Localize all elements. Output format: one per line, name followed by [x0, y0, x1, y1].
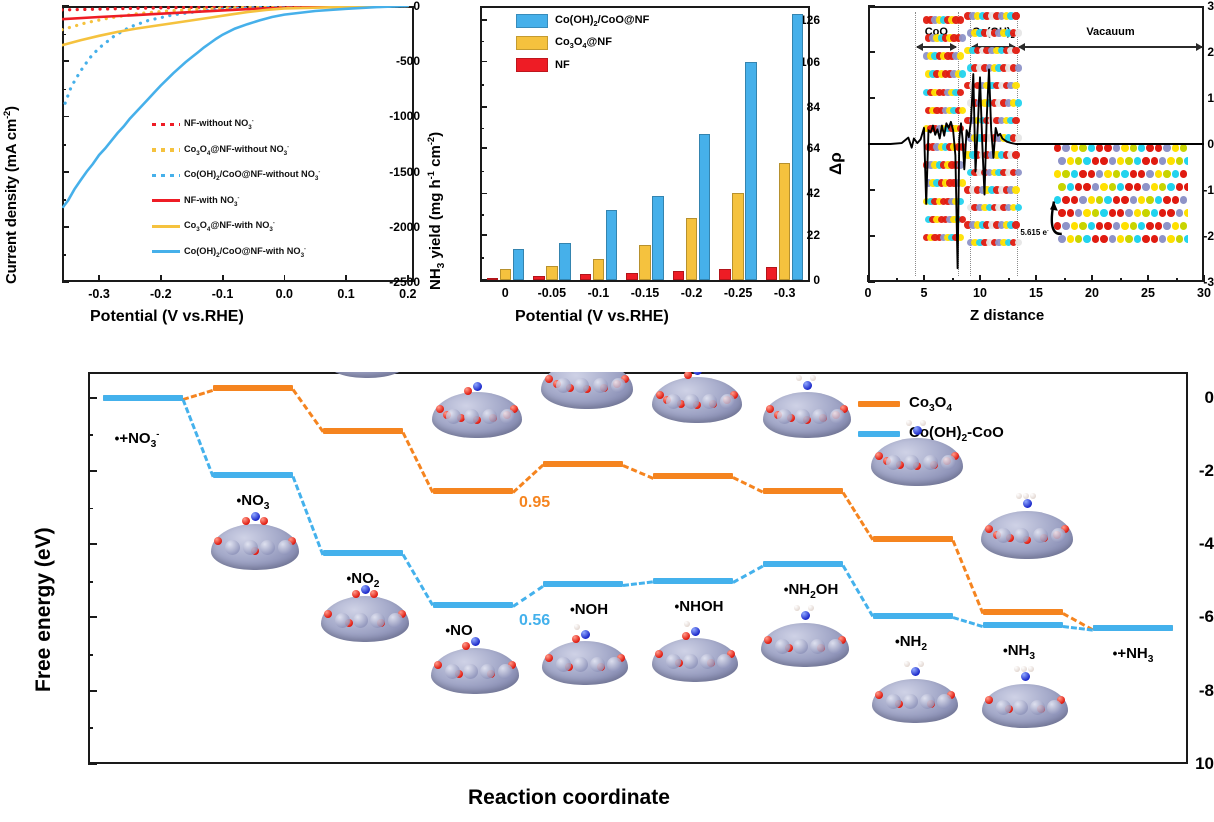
panelA-legend-item: Co(OH)2/CoO@NF-without NO3- — [152, 169, 320, 182]
panelD-connector — [182, 399, 215, 477]
panelD-connector — [952, 540, 985, 614]
cobalt-atom — [611, 378, 626, 393]
nitrogen-atom — [1021, 672, 1030, 681]
panelB-bar — [593, 259, 605, 280]
panelB-bar — [639, 245, 651, 280]
cobalt-atom — [243, 540, 258, 555]
cobalt-atom — [904, 455, 919, 470]
panelA-legend-item: NF-without NO3- — [152, 118, 254, 131]
panelD-connector — [732, 565, 763, 584]
panelA-legend-dotted-swatch — [152, 123, 180, 127]
molecule-structure — [652, 377, 742, 423]
cobalt-atom — [903, 694, 918, 709]
panelA-legend-line-swatch — [152, 250, 180, 253]
panelA-x-tick-label: -0.2 — [150, 287, 172, 301]
cobalt-atom — [260, 540, 275, 555]
cobalt-atom — [720, 394, 735, 409]
panelD-legend-label: Co3O4 — [909, 394, 952, 414]
cobalt-atom — [996, 700, 1011, 715]
panelD-connector — [622, 464, 653, 480]
panelB-x-tick-label: 0 — [502, 286, 509, 300]
panelB-bar — [745, 62, 757, 280]
panelD-energy-level — [763, 488, 843, 494]
cobalt-atom — [335, 613, 350, 628]
panelA-legend-item: NF-with NO3- — [152, 195, 239, 208]
hydrogen-atom — [810, 375, 816, 381]
cobalt-atom — [446, 409, 461, 424]
panelC-arrow-head — [1050, 202, 1058, 211]
cobalt-atom — [573, 657, 588, 672]
panelD-energy-level — [433, 602, 513, 608]
panelD-energy-level — [983, 609, 1063, 615]
panelC-charge-transfer-label: 5.615 e- — [1020, 228, 1048, 237]
panelC-x-axis-title: Z distance — [970, 307, 1044, 324]
panelC-x-tick-label: 20 — [1085, 286, 1099, 300]
oxygen-atom — [434, 661, 442, 669]
cobalt-atom — [795, 409, 810, 424]
panelD-state-label: •NH2 — [895, 633, 927, 653]
panelD-connector — [183, 389, 214, 401]
cobalt-atom — [683, 654, 698, 669]
nitrogen-atom — [911, 667, 920, 676]
cobalt-atom — [556, 378, 571, 393]
panelC-x-tick-label: 25 — [1141, 286, 1155, 300]
panelD-connector — [512, 464, 544, 494]
panelA-legend-item: Co3O4@NF-with NO3- — [152, 220, 275, 233]
panelB-bar — [626, 273, 638, 280]
panel-free-energy-diagram: Free energy (eV) Reaction coordinate 0-2… — [28, 362, 1214, 822]
molecule-structure — [761, 623, 849, 667]
panelB-x-tick-label: -0.3 — [774, 286, 796, 300]
panelA-legend-line-swatch — [152, 225, 180, 228]
panelD-legend-swatch — [858, 401, 900, 407]
cobalt-atom — [700, 654, 715, 669]
oxygen-atom — [260, 517, 268, 525]
oxygen-atom — [655, 650, 663, 658]
panelB-bar — [699, 134, 711, 280]
panelD-state-label: •NO3 — [237, 492, 270, 512]
molecule-structure — [871, 438, 963, 486]
panelD-legend-item: Co3O4 — [858, 394, 952, 414]
panelD-energy-level — [103, 395, 183, 401]
molecule-structure — [431, 648, 519, 694]
panelD-energy-level — [763, 561, 843, 567]
panelC-x-tick-label: 15 — [1029, 286, 1043, 300]
oxygen-atom — [324, 610, 332, 618]
panelC-x-tick-label: 30 — [1197, 286, 1211, 300]
oxygen-atom — [242, 517, 250, 525]
hydrogen-atom — [918, 661, 924, 667]
panelA-series-line — [62, 6, 408, 45]
hydrogen-atom — [1016, 493, 1022, 499]
cobalt-atom — [1013, 700, 1028, 715]
nitrogen-atom — [361, 585, 370, 594]
panelA-x-tick-label: 0.1 — [337, 287, 354, 301]
panelB-bar — [580, 274, 592, 280]
panelD-state-label: •+NO3- — [115, 429, 160, 450]
molecule-structure — [981, 511, 1073, 559]
hydrogen-atom — [808, 605, 814, 611]
panelA-legend-label: NF-without NO3- — [184, 118, 254, 131]
oxygen-atom — [764, 636, 772, 644]
hydrogen-atom — [1021, 666, 1027, 672]
panelB-bar — [719, 269, 731, 280]
oxygen-atom — [352, 590, 360, 598]
panelD-barrier-label: 0.56 — [519, 612, 550, 630]
panelD-energy-level — [543, 581, 623, 587]
cobalt-atom — [482, 409, 497, 424]
panelB-bar — [673, 271, 685, 280]
panelB-y-axis-title: NH3 yield (mg h-1 cm-2) — [426, 132, 447, 290]
oxygen-atom — [985, 696, 993, 704]
panelD-state-label: •NH2OH — [784, 581, 839, 601]
nitrogen-atom — [473, 382, 482, 391]
panelB-bar — [779, 163, 791, 280]
cobalt-atom — [1047, 700, 1062, 715]
panelB-legend-swatch — [516, 58, 548, 72]
panelB-bar — [606, 210, 618, 280]
molecule-structure — [432, 392, 522, 438]
oxygen-atom — [656, 391, 664, 399]
oxygen-atom — [766, 405, 774, 413]
panelD-energy-level — [213, 385, 293, 391]
panelA-legend-dotted-swatch — [152, 174, 180, 178]
molecule-structure — [982, 684, 1068, 728]
nitrogen-atom — [581, 630, 590, 639]
panelD-state-label: •NO — [445, 622, 472, 639]
oxygen-atom — [572, 635, 580, 643]
panelD-connector — [402, 554, 435, 607]
panelD-energy-level — [323, 428, 403, 434]
molecule-structure — [321, 596, 409, 642]
cobalt-atom — [1033, 528, 1048, 543]
panelB-bar — [533, 276, 545, 280]
panelD-state-label: •NHOH — [675, 598, 724, 615]
panelB-bar — [546, 266, 558, 280]
panelD-energy-level — [873, 613, 953, 619]
hydrogen-atom — [1014, 666, 1020, 672]
panelD-state-label: •NOH — [570, 601, 608, 618]
cobalt-atom — [498, 664, 513, 679]
oxygen-atom — [462, 642, 470, 650]
cobalt-atom — [353, 613, 368, 628]
panel-lsv-curves: Current density (mA cm-2) Potential (V v… — [0, 0, 420, 345]
oxygen-atom — [875, 691, 883, 699]
panelD-energy-level — [323, 550, 403, 556]
panelB-x-axis-title: Potential (V vs.RHE) — [515, 308, 669, 326]
panelB-bar — [652, 196, 664, 280]
panelB-bar — [792, 14, 804, 280]
panelD-x-axis-title: Reaction coordinate — [468, 786, 670, 810]
cobalt-atom — [464, 409, 479, 424]
panelD-legend-swatch — [858, 431, 900, 437]
panelD-connector — [292, 389, 324, 433]
nitrogen-atom — [471, 637, 480, 646]
panel-nh3-yield-bars: NH3 yield (mg h-1 cm-2) Potential (V vs.… — [420, 0, 820, 345]
panel-charge-density: Δρ Z distance 3210-1-2-3 051015202530 Co… — [820, 0, 1214, 345]
nitrogen-atom — [803, 381, 812, 390]
panelD-energy-level — [983, 622, 1063, 628]
panelA-x-tick-label: 0.0 — [276, 287, 293, 301]
panelB-x-tick-label: -0.15 — [631, 286, 660, 300]
panelC-x-tick-label: 10 — [973, 286, 987, 300]
cobalt-atom — [556, 657, 571, 672]
panelD-connector — [623, 581, 653, 588]
panelD-barrier-label: 0.95 — [519, 494, 550, 512]
panelA-x-axis-title: Potential (V vs.RHE) — [90, 308, 244, 326]
hydrogen-atom — [794, 605, 800, 611]
panelA-legend-label: NF-with NO3- — [184, 195, 239, 208]
cobalt-atom — [593, 378, 608, 393]
oxygen-atom — [684, 372, 692, 379]
panelA-legend-label: Co(OH)2/CoO@NF-without NO3- — [184, 169, 320, 182]
panelB-legend-swatch — [516, 14, 548, 28]
oxygen-atom — [214, 537, 222, 545]
cobalt-atom — [996, 528, 1011, 543]
cobalt-atom — [1030, 700, 1045, 715]
panelA-x-tick-label: -0.1 — [212, 287, 234, 301]
cobalt-atom — [388, 613, 403, 628]
panelD-y-axis-title: Free energy (eV) — [32, 527, 56, 692]
panelD-state-label: •+NH3 — [1113, 645, 1154, 665]
hydrogen-atom — [574, 624, 580, 630]
cobalt-atom — [886, 455, 901, 470]
nitrogen-atom — [691, 627, 700, 636]
panelB-x-tick-label: -0.25 — [724, 286, 753, 300]
molecule-structure — [652, 638, 738, 682]
panelB-legend-swatch — [516, 36, 548, 50]
oxygen-atom — [875, 452, 883, 460]
panelC-curve — [868, 70, 1204, 269]
oxygen-atom — [985, 525, 993, 533]
panelB-x-tick-label: -0.2 — [681, 286, 703, 300]
panelA-series-line — [65, 6, 408, 103]
panelA-legend-label: Co(OH)2/CoO@NF-with NO3- — [184, 246, 306, 259]
panelD-energy-level — [433, 488, 513, 494]
panelD-energy-level — [873, 536, 953, 542]
cobalt-atom — [717, 654, 732, 669]
panelA-legend-line-swatch — [152, 199, 180, 202]
hydrogen-atom — [1030, 493, 1036, 499]
cobalt-atom — [828, 639, 843, 654]
molecule-structure — [211, 524, 299, 570]
cobalt-atom — [278, 540, 293, 555]
panelB-legend-item: Co3O4@NF — [516, 36, 612, 50]
hydrogen-atom — [796, 375, 802, 381]
panelD-connector — [512, 585, 544, 608]
nitrogen-atom — [1023, 499, 1032, 508]
panelD-energy-level — [543, 461, 623, 467]
molecule-structure — [872, 679, 958, 723]
panelB-legend-item: NF — [516, 58, 570, 72]
cobalt-atom — [941, 455, 956, 470]
panelC-x-tick-label: 0 — [865, 286, 872, 300]
oxygen-atom — [370, 590, 378, 598]
panelA-y-axis-title: Current density (mA cm-2) — [2, 106, 20, 284]
panelD-energy-level — [1093, 625, 1173, 631]
cobalt-atom — [777, 409, 792, 424]
panelD-connector — [402, 431, 435, 493]
panelB-legend-label: Co3O4@NF — [555, 36, 612, 50]
cobalt-atom — [937, 694, 952, 709]
panelC-y-axis-title: Δρ — [826, 152, 846, 175]
panelA-x-tick-label: 0.2 — [399, 287, 416, 301]
cobalt-atom — [810, 639, 825, 654]
panelB-x-tick-label: -0.1 — [588, 286, 610, 300]
panelD-legend-label: Co(OH)2-CoO — [909, 424, 1004, 444]
cobalt-atom — [812, 409, 827, 424]
panelB-x-tick-label: -0.05 — [538, 286, 567, 300]
molecule-structure — [763, 392, 851, 438]
panelB-bar — [500, 269, 512, 280]
cobalt-atom — [1051, 528, 1066, 543]
cobalt-atom — [607, 657, 622, 672]
cobalt-atom — [923, 455, 938, 470]
panelA-legend-item: Co3O4@NF-without NO3- — [152, 144, 289, 157]
panelD-energy-level — [213, 472, 293, 478]
panelB-legend-label: NF — [555, 59, 570, 71]
panelB-bar — [559, 243, 571, 280]
panelA-legend-label: Co3O4@NF-with NO3- — [184, 220, 275, 233]
panelA-legend-label: Co3O4@NF-without NO3- — [184, 144, 289, 157]
cobalt-atom — [666, 654, 681, 669]
panelB-bar — [766, 267, 778, 280]
panelD-energy-level — [653, 578, 733, 584]
panelA-legend-dotted-swatch — [152, 148, 180, 152]
panelB-legend-label: Co(OH)2/CoO@NF — [555, 14, 649, 28]
panelB-bar — [513, 249, 525, 280]
hydrogen-atom — [920, 420, 926, 426]
hydrogen-atom — [1028, 666, 1034, 672]
oxygen-atom — [682, 632, 690, 640]
oxygen-atom — [545, 375, 553, 383]
panelD-legend-item: Co(OH)2-CoO — [858, 424, 1004, 444]
panelD-connector — [842, 565, 875, 618]
panelD-levels-and-connectors: •+NO3-•NO3•NO2•NO•NOH•NHOH•NH2OH•NH2•NH3… — [88, 372, 1188, 764]
cobalt-atom — [793, 639, 808, 654]
oxygen-atom — [545, 654, 553, 662]
cobalt-atom — [500, 409, 515, 424]
molecule-structure — [324, 372, 410, 378]
nitrogen-atom — [801, 611, 810, 620]
nitrogen-atom — [913, 426, 922, 435]
cobalt-atom — [830, 409, 845, 424]
cobalt-atom — [463, 664, 478, 679]
oxygen-atom — [436, 405, 444, 413]
nitrogen-atom — [693, 372, 702, 375]
panelA-x-tick-label: -0.3 — [88, 287, 110, 301]
panelD-energy-level — [653, 473, 733, 479]
molecule-structure — [542, 641, 628, 685]
panelD-connector — [732, 477, 763, 494]
panelC-density-curve — [868, 6, 1204, 282]
panelD-state-label: •NH3 — [1003, 642, 1035, 662]
panelD-connector — [953, 616, 984, 628]
panelB-bar — [686, 218, 698, 280]
cobalt-atom — [225, 540, 240, 555]
molecule-structure — [541, 372, 633, 409]
panelB-bar — [732, 193, 744, 280]
hydrogen-atom — [684, 621, 690, 627]
panelB-legend-item: Co(OH)2/CoO@NF — [516, 14, 649, 28]
hydrogen-atom — [904, 661, 910, 667]
panelA-legend-item: Co(OH)2/CoO@NF-with NO3- — [152, 246, 306, 259]
panelC-x-tick-label: 5 — [921, 286, 928, 300]
panelB-bar — [487, 278, 499, 280]
hydrogen-atom — [1023, 493, 1029, 499]
cobalt-atom — [574, 378, 589, 393]
panelD-connector — [842, 492, 875, 541]
nitrogen-atom — [251, 512, 260, 521]
hydrogen-atom — [906, 420, 912, 426]
oxygen-atom — [464, 387, 472, 395]
